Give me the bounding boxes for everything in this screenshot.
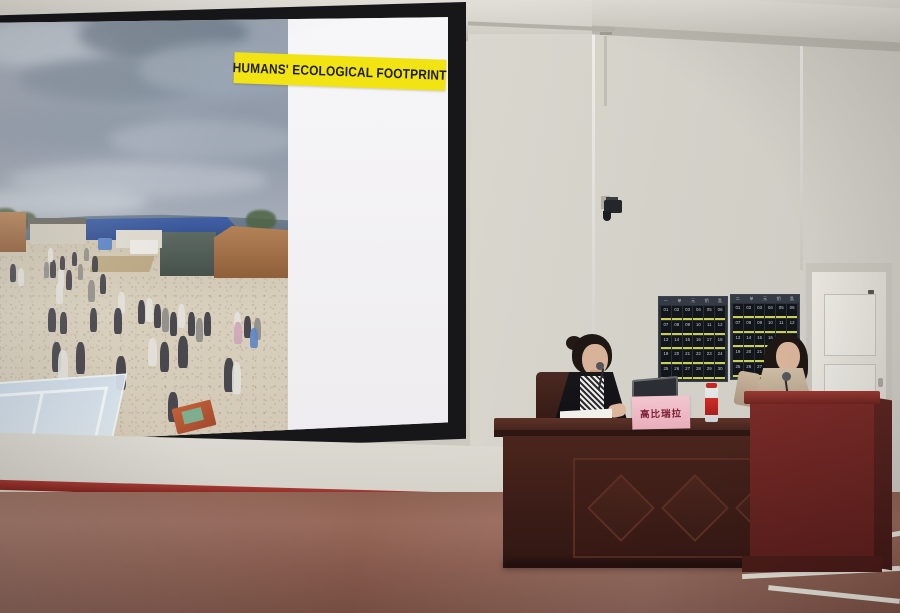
key-slot[interactable]: 06 <box>787 304 797 318</box>
wooden-pavilion <box>214 226 288 278</box>
key-slot[interactable]: 09 <box>683 321 693 335</box>
key-slot[interactable]: 05 <box>704 306 714 320</box>
lectern-base <box>742 556 882 572</box>
table-diamond-2 <box>661 474 729 542</box>
bottle-cap <box>706 383 717 388</box>
cabinet-header-char: 单 <box>749 296 753 302</box>
key-slot[interactable]: 29 <box>704 365 714 379</box>
key-slot[interactable]: 02 <box>744 304 754 318</box>
cabinet-header-char: 匙 <box>718 298 722 304</box>
key-slot[interactable]: 15 <box>755 334 765 348</box>
key-slot[interactable]: 13 <box>733 334 743 348</box>
key-slot[interactable]: 18 <box>715 336 725 350</box>
timber-frame-building <box>0 212 26 252</box>
key-slot[interactable]: 10 <box>765 319 775 333</box>
cabinet-header-char: 二 <box>736 296 740 302</box>
key-slot[interactable]: 07 <box>661 321 671 335</box>
key-cabinet-left: 一单元钥匙 0102030405060708091011121314151617… <box>658 296 728 382</box>
shed <box>30 224 86 244</box>
key-slot[interactable]: 22 <box>693 350 703 364</box>
cabinet-header-char: 一 <box>664 298 668 304</box>
key-slot[interactable]: 05 <box>776 304 786 318</box>
lecture-hall-photo: 一单元钥匙 0102030405060708091011121314151617… <box>0 0 900 613</box>
key-slot[interactable]: 08 <box>672 321 682 335</box>
glass-pavilion <box>160 232 216 276</box>
portable-toilet <box>98 238 112 250</box>
slide-title-text: HUMANS' ECOLOGICAL FOOTPRINT <box>233 60 448 83</box>
lectern-top <box>744 391 880 404</box>
bottle-label <box>705 398 718 415</box>
key-slot[interactable]: 11 <box>776 319 786 333</box>
key-slot[interactable]: 14 <box>672 336 682 350</box>
key-slot[interactable]: 24 <box>715 350 725 364</box>
key-slot[interactable]: 28 <box>693 365 703 379</box>
key-slot[interactable]: 02 <box>672 306 682 320</box>
key-slot[interactable]: 27 <box>683 365 693 379</box>
key-slot[interactable]: 01 <box>733 304 743 318</box>
key-slot[interactable]: 30 <box>715 365 725 379</box>
key-slot[interactable]: 16 <box>693 336 703 350</box>
key-slot[interactable]: 03 <box>755 304 765 318</box>
door-hinge <box>868 290 874 294</box>
key-slot[interactable]: 04 <box>765 304 775 318</box>
key-slot[interactable]: 15 <box>683 336 693 350</box>
nameplate: 高比瑞拉 <box>632 395 691 429</box>
key-slot[interactable]: 08 <box>744 319 754 333</box>
camera-lens-icon <box>603 211 611 221</box>
cabinet-header-char: 钥 <box>705 298 709 304</box>
wall-pipe <box>604 36 607 106</box>
key-slot[interactable]: 06 <box>715 306 725 320</box>
face <box>776 342 800 372</box>
key-slot[interactable]: 23 <box>704 350 714 364</box>
truck <box>130 240 158 254</box>
key-slot[interactable]: 20 <box>744 348 754 362</box>
key-slot[interactable]: 04 <box>693 306 703 320</box>
key-slot[interactable]: 19 <box>733 348 743 362</box>
door-knob[interactable] <box>878 378 883 387</box>
microphone-head <box>596 362 604 370</box>
key-slot[interactable]: 07 <box>733 319 743 333</box>
cabinet-header-char: 匙 <box>790 296 794 302</box>
key-slot[interactable]: 11 <box>704 321 714 335</box>
door-panel-top <box>824 294 876 356</box>
cabinet-header-char: 元 <box>691 298 695 304</box>
conduit-bracket <box>600 32 612 35</box>
key-slot[interactable]: 13 <box>661 336 671 350</box>
key-slot[interactable]: 12 <box>787 319 797 333</box>
key-slot[interactable]: 10 <box>693 321 703 335</box>
cabinet-grid: 0102030405060708091011121314151617181920… <box>661 306 725 379</box>
key-slot[interactable]: 17 <box>704 336 714 350</box>
key-slot[interactable]: 21 <box>683 350 693 364</box>
key-slot[interactable]: 14 <box>744 334 754 348</box>
key-slot[interactable]: 09 <box>755 319 765 333</box>
cabinet-header-char: 单 <box>677 298 681 304</box>
key-slot[interactable]: 12 <box>715 321 725 335</box>
podium-microphone-head <box>782 372 791 381</box>
key-slot[interactable]: 20 <box>672 350 682 364</box>
lectern <box>750 395 874 570</box>
cabinet-header-char: 元 <box>763 296 767 302</box>
gravel-mound <box>89 256 154 272</box>
key-slot[interactable]: 21 <box>755 348 765 362</box>
key-slot[interactable]: 03 <box>683 306 693 320</box>
cabinet-header: 一单元钥匙 <box>659 297 727 305</box>
key-slot[interactable]: 19 <box>661 350 671 364</box>
cabinet-header-char: 钥 <box>777 296 781 302</box>
projection-screen: HUMANS' ECOLOGICAL FOOTPRINT <box>0 12 448 444</box>
nameplate-text: 高比瑞拉 <box>640 405 682 420</box>
table-diamond-1 <box>587 474 655 542</box>
cabinet-header: 二单元钥匙 <box>731 295 799 303</box>
key-slot[interactable]: 01 <box>661 306 671 320</box>
